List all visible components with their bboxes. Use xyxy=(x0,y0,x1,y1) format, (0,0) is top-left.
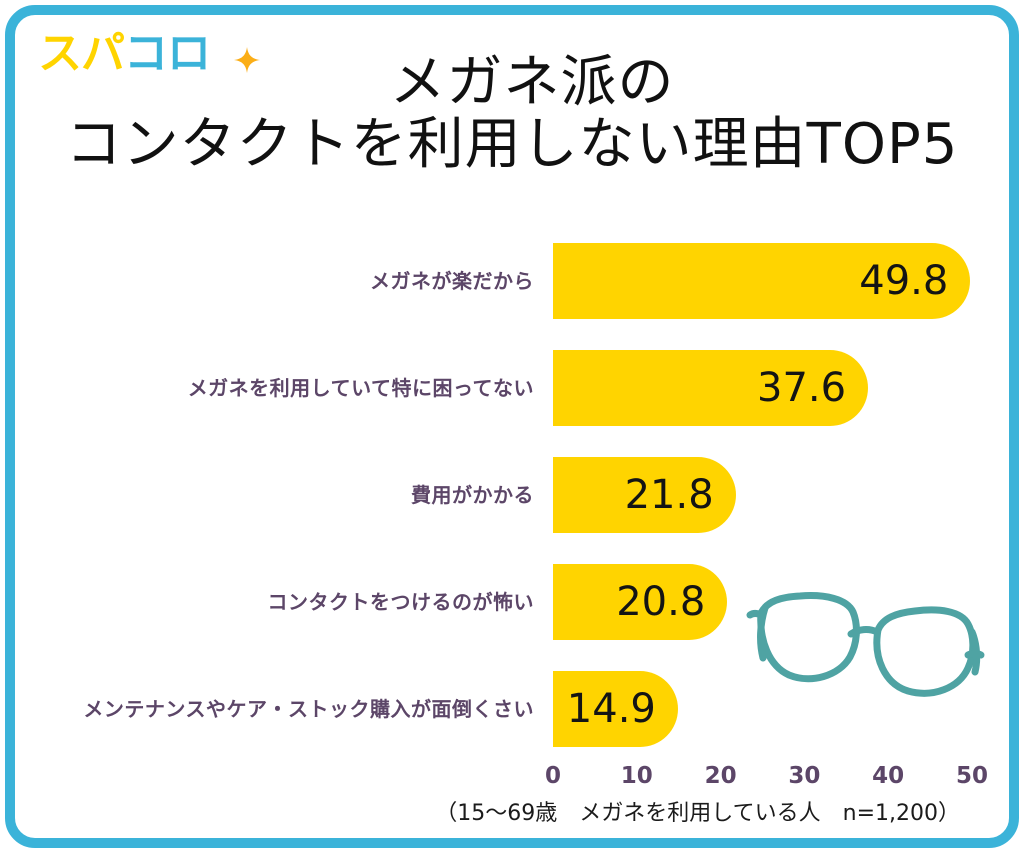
x-axis-tick: 10 xyxy=(621,762,653,790)
page-title-line-2: コンタクトを利用しない理由TOP5 xyxy=(40,114,984,176)
bar[interactable]: 49.8 xyxy=(553,243,970,319)
bar-value-label: 37.6 xyxy=(757,368,846,408)
bar-category-label: メンテナンスやケア・ストック購入が面倒くさい xyxy=(83,671,534,747)
chart-row: メガネを利用していて特に困ってない 37.6 xyxy=(0,350,1024,457)
bar-value-label: 14.9 xyxy=(567,689,656,729)
x-axis-tick: 30 xyxy=(788,762,820,790)
x-axis-tick: 0 xyxy=(545,762,561,790)
bar[interactable]: 37.6 xyxy=(553,350,868,426)
bar-category-label: コンタクトをつけるのが怖い xyxy=(268,564,535,640)
bar[interactable]: 14.9 xyxy=(553,671,678,747)
chart-row: メガネが楽だから 49.8 xyxy=(0,243,1024,350)
x-axis-tick: 40 xyxy=(872,762,904,790)
page-title-line-1: メガネ派の xyxy=(40,52,984,114)
x-axis: 0 10 20 30 40 50 xyxy=(553,762,973,792)
bar-category-label: メガネが楽だから xyxy=(370,243,534,319)
bar-value-label: 21.8 xyxy=(625,475,714,515)
bar-value-label: 49.8 xyxy=(859,261,948,301)
eyeglasses-icon xyxy=(745,580,995,705)
bar-category-label: メガネを利用していて特に困ってない xyxy=(188,350,534,426)
bar-value-label: 20.8 xyxy=(616,582,705,622)
page-title: メガネ派の コンタクトを利用しない理由TOP5 xyxy=(40,52,984,176)
bar[interactable]: 21.8 xyxy=(553,457,736,533)
bar[interactable]: 20.8 xyxy=(553,564,727,640)
chart-row: 費用がかかる 21.8 xyxy=(0,457,1024,564)
x-axis-tick: 50 xyxy=(956,762,988,790)
x-axis-tick: 20 xyxy=(705,762,737,790)
bar-category-label: 費用がかかる xyxy=(411,457,534,533)
chart-footnote: （15〜69歳 メガネを利用している人 n=1,200） xyxy=(0,795,1000,827)
infographic-canvas: スパコロ メガネ派の コンタクトを利用しない理由TOP5 メガネが楽だから 49… xyxy=(0,0,1024,853)
